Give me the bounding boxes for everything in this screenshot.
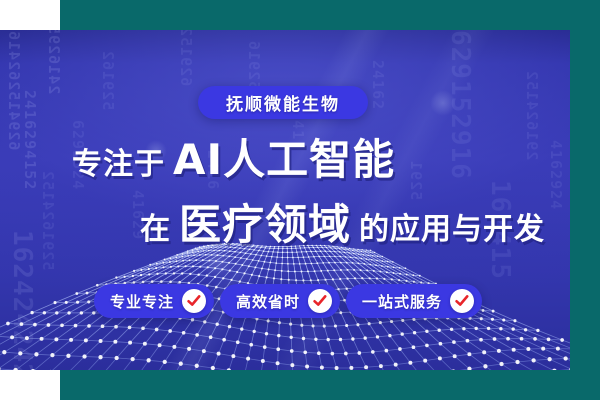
headline-line2-emphasis: 医疗领域 — [179, 191, 351, 252]
feature-pill-label: 高效省时 — [236, 291, 300, 312]
feature-pill-one-stop-service[interactable]: 一站式服务 — [346, 284, 482, 318]
headline-line2-prefix: 在 — [140, 204, 171, 248]
feature-pill-professional[interactable]: 专业专注 — [94, 284, 214, 318]
check-icon — [182, 289, 206, 313]
headline-line-2: 在 医疗领域 的应用与开发 — [0, 191, 570, 252]
banner-artwork: 6294152624162 2416294152 1624242424 5291… — [0, 30, 570, 370]
headline-line1-prefix: 专注于 — [72, 139, 165, 183]
white-notch-bottom-left — [0, 370, 60, 400]
headline-line-1: 专注于 AI人工智能 — [0, 126, 570, 187]
headline-line1-emphasis: AI人工智能 — [173, 126, 395, 187]
check-icon — [450, 289, 474, 313]
headline-block: 专注于 AI人工智能 在 医疗领域 的应用与开发 — [0, 126, 570, 252]
glow-dot-3 — [430, 90, 456, 116]
feature-pill-label: 专业专注 — [110, 291, 174, 312]
headline-line2-suffix: 的应用与开发 — [359, 204, 545, 248]
check-icon — [308, 289, 332, 313]
feature-pill-list: 专业专注 高效省时 一站式服务 — [94, 284, 482, 318]
feature-pill-label: 一站式服务 — [362, 291, 442, 312]
company-badge[interactable]: 抚顺微能生物 — [198, 86, 368, 119]
white-notch-top-left — [0, 0, 60, 30]
company-badge-label: 抚顺微能生物 — [226, 90, 340, 115]
feature-pill-efficient[interactable]: 高效省时 — [220, 284, 340, 318]
banner: 6294152624162 2416294152 1624242424 5291… — [0, 0, 600, 400]
